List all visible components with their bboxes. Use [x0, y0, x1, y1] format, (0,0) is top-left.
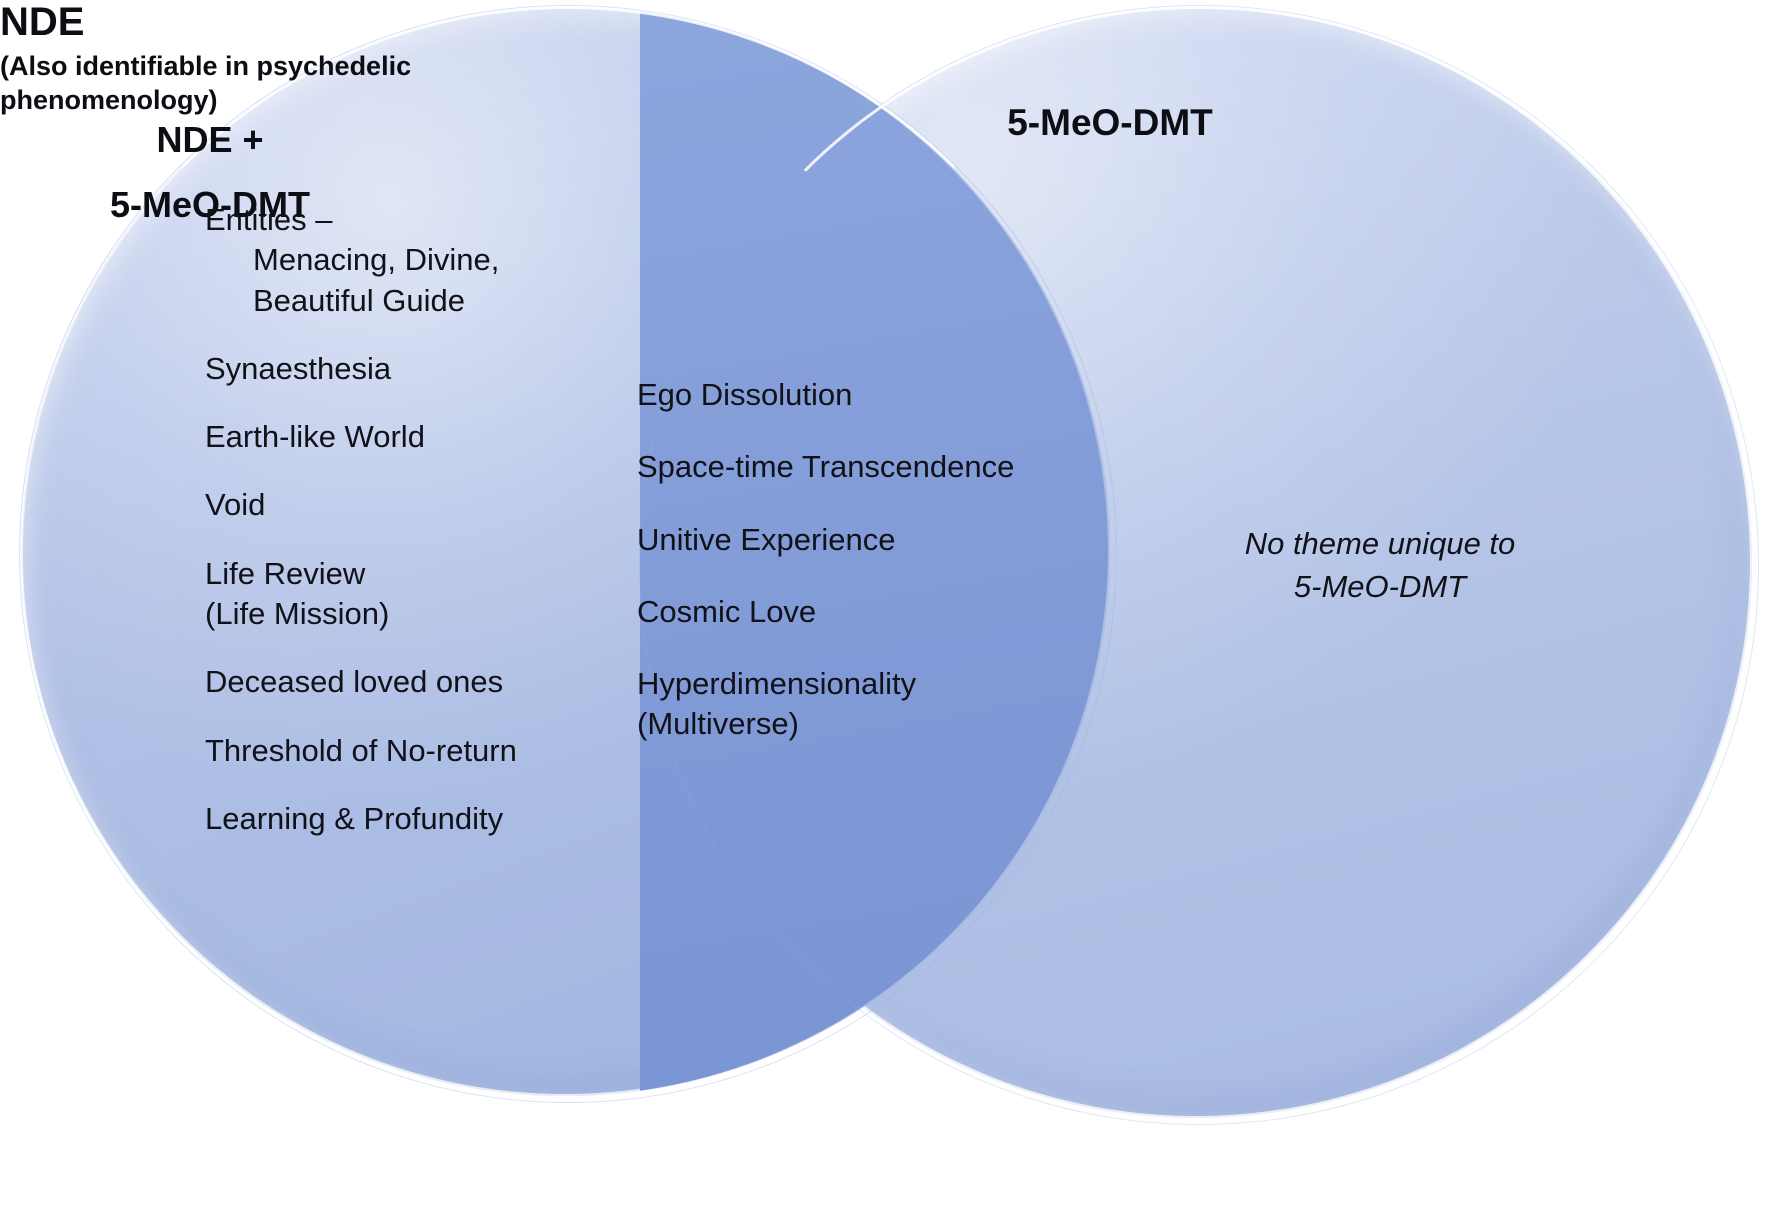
- nde-list-item-deceased-loved-ones: Deceased loved ones: [205, 662, 625, 702]
- nde-entities-head: Entities –: [205, 202, 333, 237]
- nde-list-item-learning-and-profundity: Learning & Profundity: [205, 799, 625, 839]
- nde-entities-line-2: Menacing, Divine,: [205, 240, 625, 280]
- shared-list-item-space-time-transcendence: Space-time Transcendence: [637, 447, 1067, 487]
- intersection-title-line-1: NDE +: [0, 118, 420, 161]
- nde-list-item-entities: Entities –Menacing, Divine,Beautiful Gui…: [205, 200, 625, 321]
- shared-list-item-hyperdimensionality: Hyperdimensionality (Multiverse): [637, 664, 1067, 745]
- nde-title-block: NDE (Also identifiable in psychedelic ph…: [0, 0, 460, 118]
- shared-list-item-ego-dissolution: Ego Dissolution: [637, 375, 1067, 415]
- nde-list-item-life-review: Life Review (Life Mission): [205, 554, 625, 635]
- venn-diagram: NDE (Also identifiable in psychedelic ph…: [0, 0, 1772, 1220]
- dmt-no-unique-theme-note: No theme unique to 5-MeO-DMT: [1185, 522, 1575, 609]
- nde-theme-list: Entities –Menacing, Divine,Beautiful Gui…: [205, 200, 625, 867]
- nde-title: NDE: [0, 0, 460, 44]
- intersection-theme-list: Ego Dissolution Space-time Transcendence…: [637, 375, 1067, 777]
- shared-list-item-unitive-experience: Unitive Experience: [637, 520, 1067, 560]
- venn-text-layer: NDE (Also identifiable in psychedelic ph…: [0, 0, 1772, 1220]
- nde-subtitle: (Also identifiable in psychedelic phenom…: [0, 50, 460, 118]
- dmt-title: 5-MeO-DMT: [930, 100, 1290, 146]
- shared-list-item-cosmic-love: Cosmic Love: [637, 592, 1067, 632]
- nde-list-item-synaesthesia: Synaesthesia: [205, 349, 625, 389]
- nde-entities-line-3: Beautiful Guide: [205, 281, 625, 321]
- nde-list-item-earth-like-world: Earth-like World: [205, 417, 625, 457]
- nde-list-item-threshold-of-no-return: Threshold of No-return: [205, 731, 625, 771]
- nde-list-item-void: Void: [205, 485, 625, 525]
